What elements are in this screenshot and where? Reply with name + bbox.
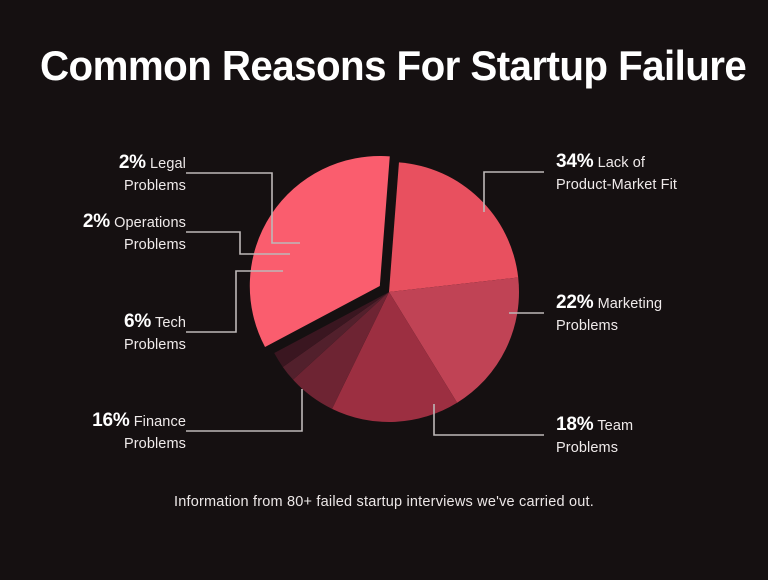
leader-line-finance-problems	[186, 389, 302, 431]
callout-finance-problems-line2: Problems	[0, 433, 186, 455]
callout-tech-problems-pct: 6%	[124, 311, 151, 332]
callout-tech-problems: 6% Tech Problems	[0, 311, 186, 356]
callout-marketing-problems: 22% Marketing Problems	[556, 292, 662, 337]
callout-team-problems-line2: Problems	[556, 437, 633, 459]
callout-team-problems: 18% Team Problems	[556, 414, 633, 459]
callout-team-problems-name: Team	[597, 418, 633, 434]
callout-legal-problems-line2: Problems	[0, 175, 186, 197]
callout-marketing-problems-name: Marketing	[598, 296, 663, 312]
callout-operations-problems-name: Operations	[114, 215, 186, 231]
callout-lack-of-product-market-fit-name: Lack of	[598, 155, 645, 171]
pie-chart-stage: 2% Legal Problems 2% Operations Problems…	[0, 0, 768, 580]
callout-tech-problems-line2: Problems	[0, 334, 186, 356]
callout-operations-problems: 2% Operations Problems	[0, 211, 186, 256]
callout-legal-problems: 2% Legal Problems	[0, 152, 186, 197]
callout-finance-problems-name: Finance	[134, 414, 186, 430]
callout-legal-problems-name: Legal	[150, 156, 186, 172]
pie-slices	[250, 156, 519, 422]
callout-operations-problems-line2: Problems	[0, 234, 186, 256]
callout-marketing-problems-pct: 22%	[556, 292, 593, 313]
callout-tech-problems-name: Tech	[155, 315, 186, 331]
leader-line-team-problems	[434, 404, 544, 435]
pie-slice-marketing-problems[interactable]	[389, 162, 518, 292]
callout-lack-of-product-market-fit-pct: 34%	[556, 151, 593, 172]
callout-team-problems-pct: 18%	[556, 414, 593, 435]
callout-finance-problems-pct: 16%	[92, 410, 129, 431]
leader-line-lack-of-product-market-fit	[484, 172, 544, 212]
infographic-canvas: Common Reasons For Startup Failure	[0, 0, 768, 580]
callout-operations-problems-pct: 2%	[83, 211, 110, 232]
callout-lack-of-product-market-fit: 34% Lack of Product-Market Fit	[556, 151, 677, 196]
pie-chart-svg	[0, 0, 768, 580]
footer-note: Information from 80+ failed startup inte…	[0, 494, 768, 510]
callout-legal-problems-pct: 2%	[119, 152, 146, 173]
callout-marketing-problems-line2: Problems	[556, 315, 662, 337]
callout-lack-of-product-market-fit-line2: Product-Market Fit	[556, 174, 677, 196]
callout-finance-problems: 16% Finance Problems	[0, 410, 186, 455]
